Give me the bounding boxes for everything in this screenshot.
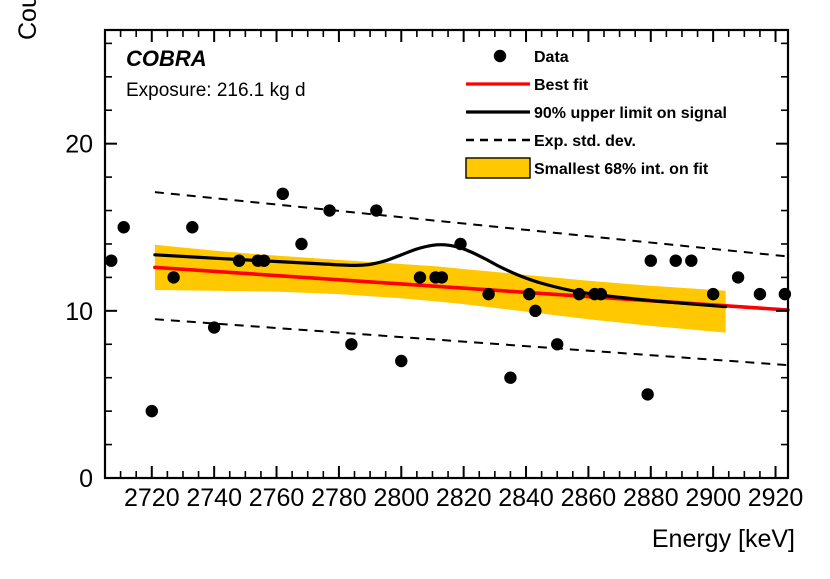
x-tick-label: 2920 bbox=[748, 484, 804, 512]
data-point bbox=[395, 355, 407, 367]
data-point bbox=[595, 288, 607, 300]
data-point bbox=[118, 221, 130, 233]
y-axis-title: Counts bbox=[14, 0, 42, 40]
legend-label: Smallest 68% int. on fit bbox=[534, 161, 709, 178]
data-point bbox=[529, 305, 541, 317]
x-tick-label: 2780 bbox=[311, 484, 367, 512]
data-point bbox=[208, 321, 220, 333]
data-point bbox=[277, 188, 289, 200]
x-axis-title: Energy [keV] bbox=[652, 525, 795, 553]
data-point bbox=[670, 254, 682, 266]
plot-root: 2720274027602780280028202840286028802900… bbox=[0, 0, 830, 579]
x-tick-label: 2740 bbox=[186, 484, 242, 512]
data-point bbox=[779, 288, 791, 300]
legend-label: 90% upper limit on signal bbox=[534, 105, 727, 122]
data-point bbox=[105, 254, 117, 266]
data-point bbox=[323, 204, 335, 216]
data-point bbox=[146, 405, 158, 417]
x-tick-label: 2820 bbox=[436, 484, 492, 512]
legend-label: Exp. std. dev. bbox=[534, 133, 636, 150]
data-point bbox=[685, 254, 697, 266]
data-point bbox=[504, 372, 516, 384]
y-tick-label: 20 bbox=[65, 131, 93, 159]
x-tick-label: 2900 bbox=[685, 484, 741, 512]
data-point bbox=[370, 204, 382, 216]
y-tick-label: 0 bbox=[79, 465, 93, 493]
x-tick-label: 2720 bbox=[124, 484, 180, 512]
data-point bbox=[186, 221, 198, 233]
x-tick-label: 2860 bbox=[561, 484, 617, 512]
data-point bbox=[707, 288, 719, 300]
data-point bbox=[414, 271, 426, 283]
annotation-title: COBRA bbox=[126, 46, 207, 71]
data-point bbox=[645, 254, 657, 266]
data-point bbox=[551, 338, 563, 350]
x-tick-label: 2840 bbox=[498, 484, 554, 512]
data-point bbox=[523, 288, 535, 300]
x-tick-label: 2760 bbox=[249, 484, 305, 512]
data-point bbox=[436, 271, 448, 283]
data-point bbox=[295, 238, 307, 250]
legend-label: Data bbox=[534, 49, 569, 66]
y-tick-label: 10 bbox=[65, 298, 93, 326]
x-tick-label: 2880 bbox=[623, 484, 679, 512]
x-tick-label: 2800 bbox=[373, 484, 429, 512]
data-point bbox=[454, 238, 466, 250]
data-point bbox=[732, 271, 744, 283]
scientific-plot: 2720274027602780280028202840286028802900… bbox=[0, 0, 830, 579]
data-point bbox=[167, 271, 179, 283]
data-point bbox=[641, 388, 653, 400]
data-point bbox=[573, 288, 585, 300]
data-point bbox=[258, 254, 270, 266]
data-point bbox=[482, 288, 494, 300]
data-point bbox=[345, 338, 357, 350]
data-point bbox=[233, 254, 245, 266]
legend-marker-filled-box-icon bbox=[466, 158, 530, 178]
legend-marker-filled-circle-icon bbox=[494, 50, 506, 62]
legend-label: Best fit bbox=[534, 77, 589, 94]
data-point bbox=[754, 288, 766, 300]
annotation-subtitle: Exposure: 216.1 kg d bbox=[126, 80, 306, 101]
